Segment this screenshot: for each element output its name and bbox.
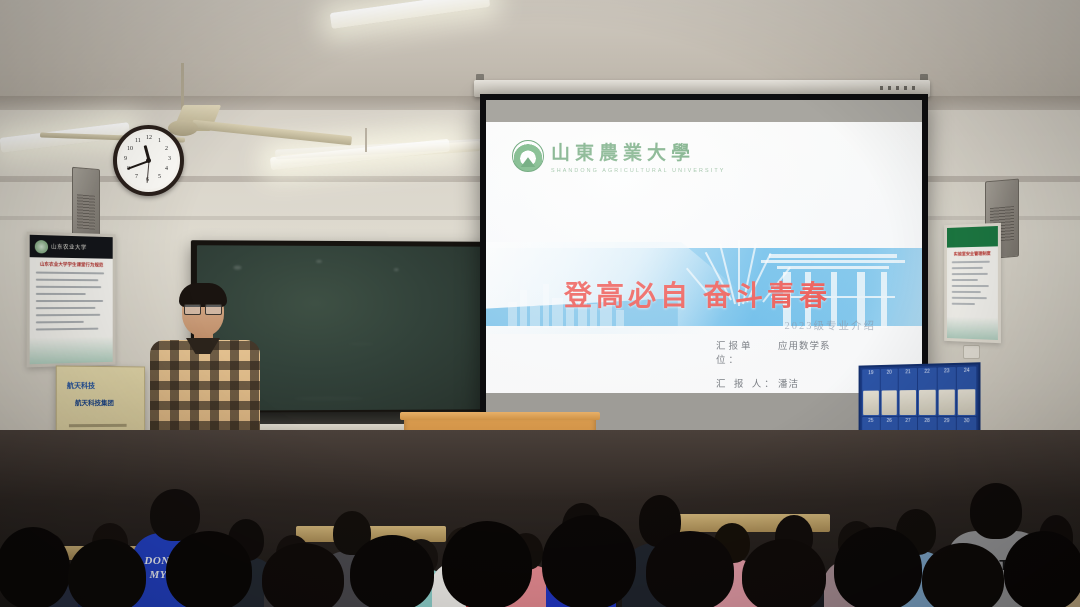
pocket-number: 21 xyxy=(899,369,917,375)
slide-subtitle: 2023级专业介绍 xyxy=(785,318,877,333)
clock-face: 12 1 2 3 4 5 6 7 8 9 10 11 xyxy=(120,132,177,189)
meta-value: 应用数学系 xyxy=(778,338,831,352)
pocket-number: 24 xyxy=(957,367,976,374)
person-head xyxy=(350,535,434,607)
clock-numeral: 7 xyxy=(135,174,138,180)
box-sub-text: 航天科技集团 xyxy=(75,397,114,407)
person-head xyxy=(166,531,252,607)
notice-board-brand: 山东农业大学 xyxy=(51,242,87,251)
meta-row-presenter: 汇 报 人： 潘洁 xyxy=(716,376,856,390)
clock-center-pin xyxy=(146,158,151,163)
housing-vents xyxy=(880,86,920,90)
phone-pocket: 19 xyxy=(862,369,879,416)
pocket-number: 23 xyxy=(937,368,956,375)
person-head xyxy=(834,527,922,607)
person-head xyxy=(646,531,734,607)
wall-outlet-icon xyxy=(963,345,980,359)
notice-board-title: 实验室安全管理制度 xyxy=(947,250,998,257)
notice-board-header: 山东农业大学 xyxy=(30,235,113,259)
person-head xyxy=(1004,531,1080,607)
box-logo-text: 航天科技 xyxy=(67,381,95,391)
notice-board-footer-graphic xyxy=(30,336,113,364)
screen-unlit-top xyxy=(486,100,922,122)
pocket-number: 20 xyxy=(880,370,898,376)
wall-clock: 12 1 2 3 4 5 6 7 8 9 10 11 xyxy=(113,125,184,196)
audience-member xyxy=(258,537,354,607)
light-hanger xyxy=(365,128,367,152)
clock-numeral: 4 xyxy=(165,166,168,172)
person-head xyxy=(742,539,826,607)
pocket-number: 19 xyxy=(862,370,879,376)
phone-pocket: 23 xyxy=(937,367,956,416)
slide-title: 登高必自 奋斗青春 xyxy=(564,274,831,314)
clock-numeral: 11 xyxy=(135,138,141,144)
clock-numeral: 2 xyxy=(165,146,168,152)
audience-member xyxy=(434,521,542,607)
clock-numeral: 9 xyxy=(124,156,127,162)
clock-numeral: 5 xyxy=(158,174,161,180)
meta-row-department: 汇报单位： 应用数学系 xyxy=(716,338,856,366)
audience-member xyxy=(1000,529,1080,607)
slide-meta-block: 汇报单位： 应用数学系 汇 报 人： 潘洁 时 间： 2023年10月27日 xyxy=(716,338,856,393)
audience-member xyxy=(828,525,932,607)
person-head xyxy=(0,527,70,607)
audience-member xyxy=(344,533,444,607)
pocket-number: 22 xyxy=(918,369,936,375)
clock-numeral: 10 xyxy=(127,146,133,152)
right-notice-board: 实验室安全管理制度 xyxy=(944,223,1001,343)
audience-member xyxy=(64,535,156,607)
meta-value: 潘洁 xyxy=(778,376,799,390)
audience-member xyxy=(534,515,646,607)
presentation-slide: 山東農業大學 SHANDONG AGRICULTURAL UNIVERSITY xyxy=(486,122,922,393)
clock-numeral: 1 xyxy=(158,138,161,144)
university-logo: 山東農業大學 SHANDONG AGRICULTURAL UNIVERSITY xyxy=(512,138,725,174)
notice-board-footer-graphic xyxy=(947,316,998,340)
wall-speaker-icon xyxy=(72,167,100,241)
university-seal-icon xyxy=(35,239,48,253)
person-head xyxy=(922,543,1004,607)
university-name-en: SHANDONG AGRICULTURAL UNIVERSITY xyxy=(551,168,725,174)
audience-member xyxy=(160,529,264,607)
person-head xyxy=(68,539,146,607)
audience-member xyxy=(736,533,836,607)
glasses-icon xyxy=(184,304,222,313)
university-name-cn: 山東農業大學 xyxy=(551,138,725,165)
notice-board-header xyxy=(947,226,998,248)
clock-numeral: 12 xyxy=(146,135,152,141)
speaker-grill xyxy=(77,194,95,230)
notice-board-title: 山东农业大学学生课堂行为规范 xyxy=(30,261,113,268)
notice-board-text-lines xyxy=(952,261,993,310)
meta-label: 汇 报 人： xyxy=(716,376,778,390)
phone-pocket: 20 xyxy=(880,369,898,416)
audience-member xyxy=(640,527,744,607)
person-head xyxy=(542,515,636,607)
person-head xyxy=(442,521,532,607)
university-seal-icon xyxy=(512,140,544,172)
person-head xyxy=(262,543,344,607)
phone-pocket: 21 xyxy=(899,368,917,415)
left-notice-board: 山东农业大学 山东农业大学学生课堂行为规范 xyxy=(27,232,116,368)
projector-screen: 山東農業大學 SHANDONG AGRICULTURAL UNIVERSITY xyxy=(486,100,922,433)
notice-board-text-lines xyxy=(36,272,107,336)
audience: DON'T ASK MY PLAN xyxy=(0,418,1080,607)
meta-label: 汇报单位： xyxy=(716,338,778,366)
phone-pocket: 22 xyxy=(918,368,936,416)
clock-numeral: 3 xyxy=(168,156,171,162)
phone-pocket: 24 xyxy=(957,366,976,415)
classroom-photo: 12 1 2 3 4 5 6 7 8 9 10 11 山东农业大学 山东农业大学… xyxy=(0,0,1080,607)
